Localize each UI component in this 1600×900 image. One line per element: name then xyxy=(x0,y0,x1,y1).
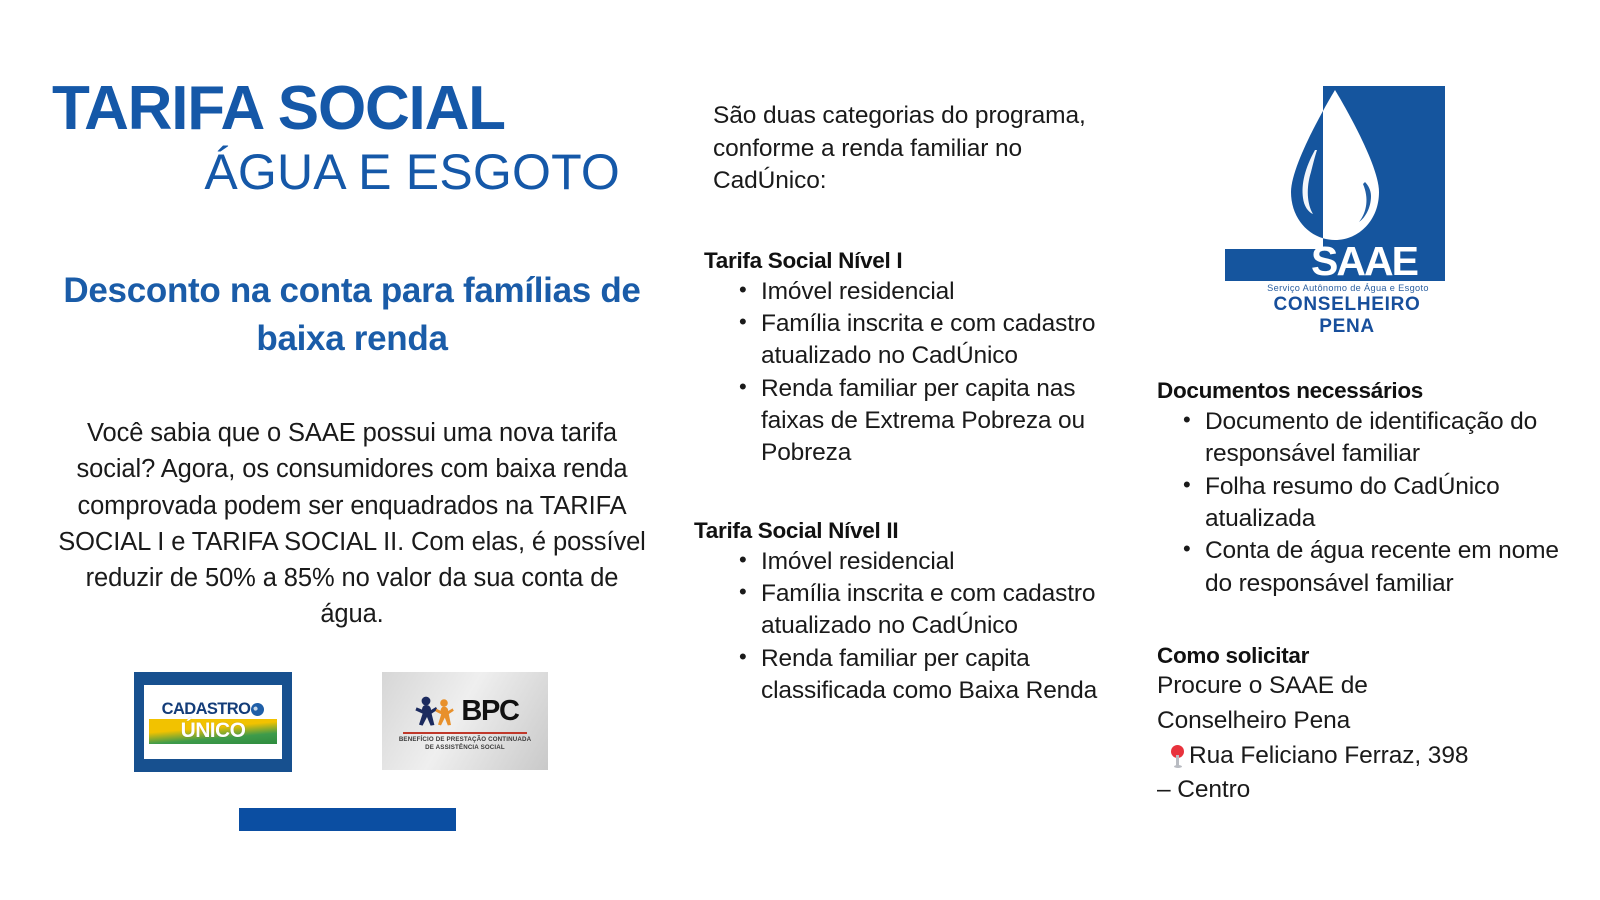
water-drop-icon xyxy=(250,701,267,718)
saae-tagline: Serviço Autônomo de Água e Esgoto xyxy=(1225,283,1447,293)
list-item: Folha resumo do CadÚnico atualizada xyxy=(1183,471,1583,536)
right-column: SAAE Serviço Autônomo de Água e Esgoto C… xyxy=(1153,86,1583,808)
page-subtitle: ÁGUA E ESGOTO xyxy=(52,146,652,199)
bpc-caption: BENEFÍCIO DE PRESTAÇÃO CONTINUADA DE ASS… xyxy=(399,736,531,752)
decorative-blue-bar xyxy=(239,808,456,831)
bpc-caption-line1: BENEFÍCIO DE PRESTAÇÃO CONTINUADA xyxy=(399,736,531,743)
cadastro-unico-bottom: ÚNICO xyxy=(149,719,277,744)
how-to-apply-line1: Procure o SAAE de xyxy=(1157,669,1583,704)
how-to-apply-title: Como solicitar xyxy=(1157,643,1583,669)
documents-list: Documento de identificação do responsáve… xyxy=(1153,406,1583,600)
address-line-continued: – Centro xyxy=(1157,773,1583,808)
bpc-wordmark: BPC xyxy=(461,697,518,726)
list-item: Renda familiar per capita nas faixas de … xyxy=(739,373,1133,470)
tier-1-list: Imóvel residencial Família inscrita e co… xyxy=(713,276,1133,470)
map-pin-stem xyxy=(1176,755,1179,767)
poster-canvas: TARIFA SOCIAL ÁGUA E ESGOTO Desconto na … xyxy=(0,0,1600,900)
list-item: Conta de água recente em nome do respons… xyxy=(1183,535,1583,600)
cadastro-unico-inner: CADASTRO ÚNICO xyxy=(144,685,282,759)
cadastro-unico-line1: CADASTRO xyxy=(162,701,251,718)
cadastro-unico-line2: ÚNICO xyxy=(181,719,246,742)
saae-wordmark: SAAE xyxy=(1253,243,1417,281)
list-item: Imóvel residencial xyxy=(739,546,1133,578)
list-item: Família inscrita e com cadastro atualiza… xyxy=(739,308,1133,373)
categories-intro: São duas categorias do programa, conform… xyxy=(713,100,1133,198)
bpc-mark: BPC xyxy=(411,694,518,728)
page-title: TARIFA SOCIAL xyxy=(52,78,652,140)
middle-column: São duas categorias do programa, conform… xyxy=(713,100,1133,707)
saae-logo: SAAE Serviço Autônomo de Água e Esgoto C… xyxy=(1225,86,1447,338)
partner-logos: CADASTRO ÚNICO xyxy=(80,592,620,732)
bpc-caption-line2: DE ASSISTÊNCIA SOCIAL xyxy=(425,744,505,751)
two-people-icon xyxy=(411,695,459,727)
saae-city: CONSELHEIRO PENA xyxy=(1225,294,1447,338)
water-drop-icon xyxy=(1271,88,1399,260)
list-item: Renda familiar per capita classificada c… xyxy=(739,643,1133,708)
bpc-logo: BPC BENEFÍCIO DE PRESTAÇÃO CONTINUADA DE… xyxy=(382,672,548,770)
how-to-apply-body: Procure o SAAE de Conselheiro Pena Rua F… xyxy=(1157,669,1583,808)
list-item: Família inscrita e com cadastro atualiza… xyxy=(739,578,1133,643)
how-to-apply-line2: Conselheiro Pena xyxy=(1157,704,1583,739)
cadastro-unico-logo: CADASTRO ÚNICO xyxy=(134,672,292,772)
address-text: Rua Feliciano Ferraz, 398 xyxy=(1189,742,1468,769)
list-item: Imóvel residencial xyxy=(739,276,1133,308)
list-item: Documento de identificação do responsáve… xyxy=(1183,406,1583,471)
address-line: Rua Feliciano Ferraz, 398 xyxy=(1157,739,1583,774)
bpc-divider xyxy=(403,732,527,734)
headline: Desconto na conta para famílias de baixa… xyxy=(52,267,652,364)
map-pin-icon xyxy=(1171,745,1184,767)
tier-1-title: Tarifa Social Nível I xyxy=(704,248,1133,274)
saae-wordmark-band: SAAE xyxy=(1225,247,1445,281)
tier-2-title: Tarifa Social Nível II xyxy=(694,518,1133,544)
left-column: TARIFA SOCIAL ÁGUA E ESGOTO Desconto na … xyxy=(52,78,652,632)
tier-2-list: Imóvel residencial Família inscrita e co… xyxy=(713,546,1133,708)
cadastro-unico-top: CADASTRO xyxy=(149,701,277,718)
documents-title: Documentos necessários xyxy=(1157,378,1583,404)
saae-logo-mark: SAAE xyxy=(1225,86,1445,281)
